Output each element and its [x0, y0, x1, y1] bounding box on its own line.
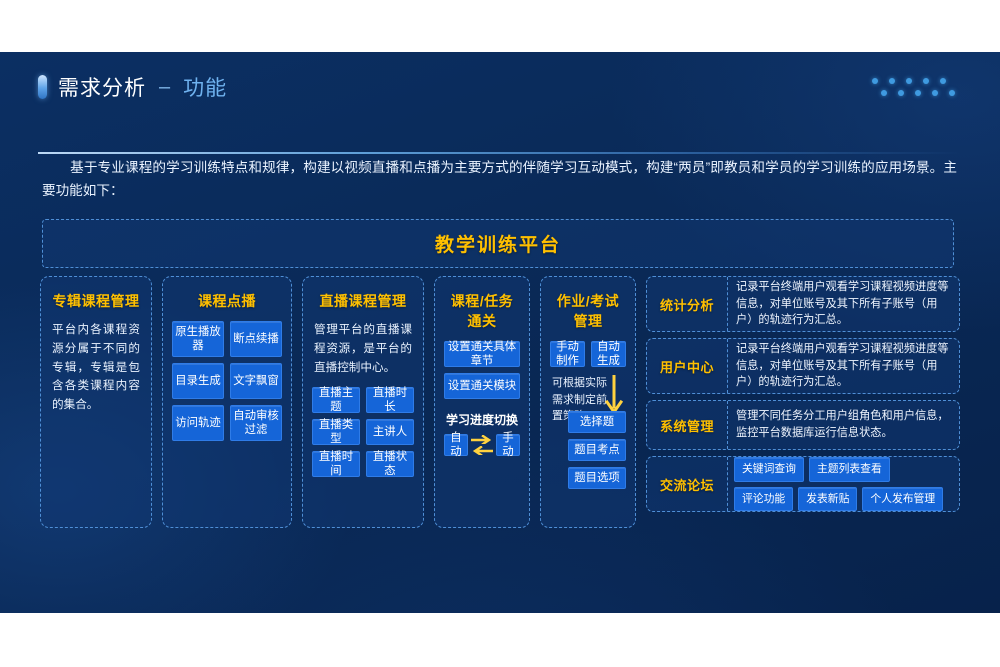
module-card-live-course[interactable]: 直播课程管理 管理平台的直播课程资源，是平台的直播控制中心。 直播主题 直播时长… [302, 276, 424, 528]
forum-tag[interactable]: 关键词查询 [734, 457, 804, 481]
intro-paragraph: 基于专业课程的学习训练特点和规律，构建以视频直播和点播为主要方式的伴随学习互动模… [42, 156, 957, 203]
feature-button-group: 手动制作 自动生成 [550, 341, 626, 367]
module-title: 课程/任务通关 [444, 291, 520, 331]
module-description: 管理平台的直播课程资源，是平台的直播控制中心。 [314, 321, 412, 377]
module-card-course-task-pass[interactable]: 课程/任务通关 设置通关具体章节 设置通关模块 学习进度切换 自动 手动 [434, 276, 530, 528]
feature-button[interactable]: 设置通关模块 [444, 373, 520, 399]
feature-button[interactable]: 访问轨迹 [172, 405, 224, 441]
module-title: 直播课程管理 [312, 291, 414, 311]
module-title: 课程点播 [172, 291, 282, 311]
feature-button-group: 直播主题 直播时长 直播类型 主讲人 直播时间 直播状态 [312, 387, 414, 477]
question-button-group: 选择题 题目考点 题目选项 [568, 411, 626, 489]
title-underline-divider [38, 152, 962, 154]
platform-banner: 教学训练平台 [42, 219, 954, 268]
feature-button[interactable]: 题目考点 [568, 439, 626, 461]
module-card-homework-exam[interactable]: 作业/考试管理 手动制作 自动生成 可根据实际需求制定前置策略 选择题 题目考点… [540, 276, 636, 528]
feature-button[interactable]: 自动生成 [591, 341, 626, 367]
exam-flow-area: 可根据实际需求制定前置策略 选择题 题目考点 题目选项 [550, 375, 626, 503]
feature-button[interactable]: 主讲人 [366, 419, 414, 445]
feature-button[interactable]: 原生播放器 [172, 321, 224, 357]
module-row-description: 管理不同任务分工用户组角色和用户信息，监控平台数据库运行信息状态。 [728, 401, 959, 449]
feature-button[interactable]: 直播时长 [366, 387, 414, 413]
decorative-dots-icon [872, 72, 962, 102]
feature-button[interactable]: 选择题 [568, 411, 626, 433]
forum-tag[interactable]: 主题列表查看 [809, 457, 890, 481]
feature-button-group: 原生播放器 断点续播 目录生成 文字飘窗 访问轨迹 自动审核过滤 [172, 321, 282, 441]
module-row-label: 系统管理 [647, 401, 728, 449]
feature-button[interactable]: 直播主题 [312, 387, 360, 413]
slide-header: 需求分析 – 功能 [38, 72, 962, 122]
two-way-arrows-icon [471, 435, 493, 455]
feature-button[interactable]: 手动制作 [550, 341, 585, 367]
module-row-description: 记录平台终端用户观看学习课程视频进度等信息，对单位账号及其下所有子账号（用户）的… [728, 339, 959, 393]
module-row-forum[interactable]: 交流论坛 关键词查询 主题列表查看 评论功能 发表新贴 个人发布管理 [646, 456, 960, 512]
module-description: 平台内各课程资源分属于不同的专辑，专辑是包含各类课程内容的集合。 [52, 321, 140, 415]
feature-button[interactable]: 直播状态 [366, 451, 414, 477]
module-row-user-center[interactable]: 用户中心 记录平台终端用户观看学习课程视频进度等信息，对单位账号及其下所有子账号… [646, 338, 960, 394]
forum-tag-group: 关键词查询 主题列表查看 评论功能 发表新贴 个人发布管理 [734, 457, 953, 510]
title-sub-text: 功能 [183, 72, 227, 102]
feature-button[interactable]: 断点续播 [230, 321, 282, 357]
title-main-text: 需求分析 [58, 72, 146, 102]
platform-title: 教学训练平台 [435, 230, 561, 257]
module-row-statistics[interactable]: 统计分析 记录平台终端用户观看学习课程视频进度等信息，对单位账号及其下所有子账号… [646, 276, 960, 332]
title-accent-bar-icon [38, 75, 47, 99]
feature-button[interactable]: 题目选项 [568, 467, 626, 489]
module-title: 作业/考试管理 [550, 291, 626, 331]
module-card-course-vod[interactable]: 课程点播 原生播放器 断点续播 目录生成 文字飘窗 访问轨迹 自动审核过滤 [162, 276, 292, 528]
feature-button[interactable]: 设置通关具体章节 [444, 341, 520, 367]
switch-auto-button[interactable]: 自动 [444, 434, 468, 456]
feature-button[interactable]: 文字飘窗 [230, 363, 282, 399]
module-row-label: 统计分析 [647, 277, 728, 331]
intro-text: 基于专业课程的学习训练特点和规律，构建以视频直播和点播为主要方式的伴随学习互动模… [42, 160, 957, 198]
title-separator: – [159, 76, 170, 99]
slide-canvas: 需求分析 – 功能 基于专业课程的学习训练特点和规律，构建以视频直播和点播为主要… [0, 52, 1000, 613]
feature-button[interactable]: 自动审核过滤 [230, 405, 282, 441]
forum-tag[interactable]: 个人发布管理 [862, 487, 943, 511]
module-row-description: 记录平台终端用户观看学习课程视频进度等信息，对单位账号及其下所有子账号（用户）的… [728, 277, 959, 331]
module-title: 专辑课程管理 [50, 291, 142, 311]
module-row-label: 用户中心 [647, 339, 728, 393]
progress-switch-label: 学习进度切换 [444, 411, 520, 428]
feature-button[interactable]: 直播时间 [312, 451, 360, 477]
functions-grid: 专辑课程管理 平台内各课程资源分属于不同的专辑，专辑是包含各类课程内容的集合。 … [40, 276, 960, 528]
page-title: 需求分析 – 功能 [38, 72, 962, 102]
switch-manual-button[interactable]: 手动 [496, 434, 520, 456]
module-card-album-course[interactable]: 专辑课程管理 平台内各课程资源分属于不同的专辑，专辑是包含各类课程内容的集合。 [40, 276, 152, 528]
right-modules-panel: 统计分析 记录平台终端用户观看学习课程视频进度等信息，对单位账号及其下所有子账号… [646, 276, 960, 528]
module-row-tags: 关键词查询 主题列表查看 评论功能 发表新贴 个人发布管理 [728, 457, 959, 511]
feature-button[interactable]: 目录生成 [172, 363, 224, 399]
progress-switch-control: 自动 手动 [444, 434, 520, 456]
forum-tag[interactable]: 评论功能 [734, 487, 793, 511]
feature-button[interactable]: 直播类型 [312, 419, 360, 445]
module-row-label: 交流论坛 [647, 457, 728, 511]
forum-tag[interactable]: 发表新贴 [798, 487, 857, 511]
feature-button-group: 设置通关具体章节 设置通关模块 [444, 341, 520, 399]
module-row-system-management[interactable]: 系统管理 管理不同任务分工用户组角色和用户信息，监控平台数据库运行信息状态。 [646, 400, 960, 450]
